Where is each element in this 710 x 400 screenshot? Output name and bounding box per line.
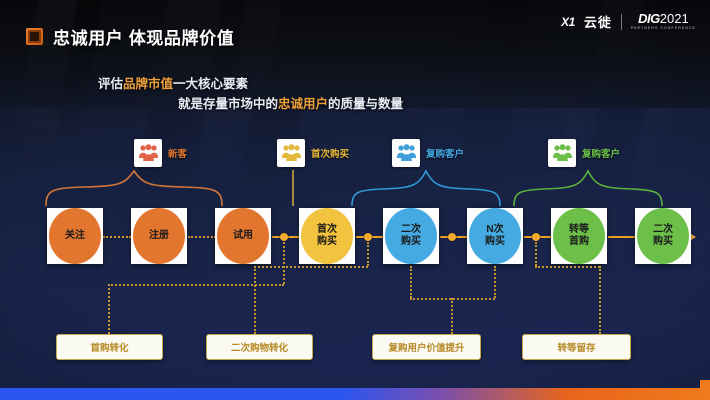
brand-name: 云徙: [584, 12, 612, 31]
bottom-accent-bar: [0, 388, 710, 400]
bottom-accent-bar-cap: [700, 380, 710, 388]
flow-node-6[interactable]: N次 购买: [467, 208, 523, 264]
subtitle-l1-b: 一大核心要素: [173, 77, 248, 91]
subtitle-line-1: 评估品牌市值一大核心要素: [98, 77, 248, 91]
flow-node-label-top: 注册: [149, 230, 169, 243]
flow-node-label-top: 试用: [233, 230, 253, 243]
outcome-box-label: 复购用户价值提升: [388, 340, 464, 354]
flow-node-7[interactable]: 转等 首购: [551, 208, 607, 264]
page-title: 忠诚用户 体现品牌价值: [53, 24, 234, 49]
slide-canvas: 忠诚用户 体现品牌价值 X1 云徙 DIG2021 PARTNERS CONFE…: [0, 0, 710, 400]
flow-node-circle: 试用: [217, 208, 269, 264]
persona-label: 复购客户: [426, 146, 464, 160]
subtitle-l2-b: 的质量与数量: [328, 97, 403, 111]
flow-node-8[interactable]: 二次 购买: [635, 208, 691, 264]
brand-mark: X1: [561, 15, 575, 29]
brace-yellow: [288, 170, 298, 206]
user-group-icon: [548, 139, 576, 167]
outcome-box-4[interactable]: 转等留存: [522, 334, 631, 360]
flow-node-3[interactable]: 试用: [215, 208, 271, 264]
flow-junction-dot-4: [532, 233, 540, 241]
brace-green: [512, 168, 664, 208]
subtitle-l2-a: 就是存量市场中的: [178, 97, 278, 111]
flow-node-circle: 注册: [133, 208, 185, 264]
flow-node-circle: 关注: [49, 208, 101, 264]
flow-junction-dot-1: [280, 233, 288, 241]
flow-node-1[interactable]: 关注: [47, 208, 103, 264]
flow-junction-dot-2: [364, 233, 372, 241]
user-group-icon: [277, 139, 305, 167]
outcome-box-1[interactable]: 首购转化: [56, 334, 163, 360]
subtitle-l2-highlight: 忠诚用户: [278, 97, 328, 111]
brand-logo-group: X1 云徙 DIG2021 PARTNERS CONFERENCE: [561, 12, 696, 31]
outcome-box-label: 转等留存: [557, 340, 595, 354]
subtitle-l1-highlight: 品牌市值: [123, 77, 173, 91]
flow-node-circle: N次 购买: [469, 208, 521, 264]
flow-node-label-top: N次: [486, 224, 503, 237]
persona-label: 复购客户: [582, 146, 620, 160]
persona-repeat-customer-blue[interactable]: 复购客户: [392, 139, 464, 167]
outcome-box-label: 二次购物转化: [231, 340, 288, 354]
flow-node-circle: 首次 购买: [301, 208, 353, 264]
subtitle-line-2: 就是存量市场中的忠诚用户的质量与数量: [178, 94, 403, 114]
flow-node-circle: 二次 购买: [637, 208, 689, 264]
event-logo: DIG2021 PARTNERS CONFERENCE: [631, 12, 696, 31]
flow-node-label-top: 二次: [401, 224, 421, 237]
flow-junction-dot-3: [448, 233, 456, 241]
flow-node-4[interactable]: 首次 购买: [299, 208, 355, 264]
flow-node-label-bottom: 购买: [485, 236, 505, 249]
square-badge-icon: [26, 28, 43, 45]
flow-node-2[interactable]: 注册: [131, 208, 187, 264]
flow-connector-2: [188, 236, 216, 238]
outcome-box-2[interactable]: 二次购物转化: [206, 334, 313, 360]
persona-first-purchase[interactable]: 首次购买: [277, 139, 349, 167]
flow-node-label-bottom: 购买: [317, 236, 337, 249]
persona-label: 首次购买: [311, 146, 349, 160]
flow-node-label-top: 首次: [317, 224, 337, 237]
flow-node-5[interactable]: 二次 购买: [383, 208, 439, 264]
flow-connector-1: [103, 236, 131, 238]
subtitle-l1-a: 评估: [98, 77, 123, 91]
brace-orange: [44, 168, 224, 208]
subtitle-block: 评估品牌市值一大核心要素 就是存量市场中的忠诚用户的质量与数量: [98, 74, 403, 114]
user-group-icon: [392, 139, 420, 167]
outcome-box-label: 首购转化: [90, 340, 128, 354]
event-name: DIG: [638, 11, 660, 26]
flow-node-label-top: 转等: [569, 224, 589, 237]
flow-node-label-bottom: 购买: [653, 236, 673, 249]
logo-divider: [621, 14, 622, 30]
flow-node-circle: 二次 购买: [385, 208, 437, 264]
event-subtitle: PARTNERS CONFERENCE: [631, 27, 696, 31]
flow-node-label-top: 二次: [653, 224, 673, 237]
persona-repeat-customer-green[interactable]: 复购客户: [548, 139, 620, 167]
event-year: 2021: [660, 11, 689, 26]
user-group-icon: [134, 139, 162, 167]
page-title-row: 忠诚用户 体现品牌价值: [26, 24, 234, 49]
flow-node-label-bottom: 购买: [401, 236, 421, 249]
persona-new-customer[interactable]: 新客: [134, 139, 187, 167]
flow-node-circle: 转等 首购: [553, 208, 605, 264]
persona-label: 新客: [168, 146, 187, 160]
flow-node-label-bottom: 首购: [569, 236, 589, 249]
brace-blue: [350, 168, 502, 208]
flow-node-label-top: 关注: [65, 230, 85, 243]
outcome-box-3[interactable]: 复购用户价值提升: [372, 334, 481, 360]
